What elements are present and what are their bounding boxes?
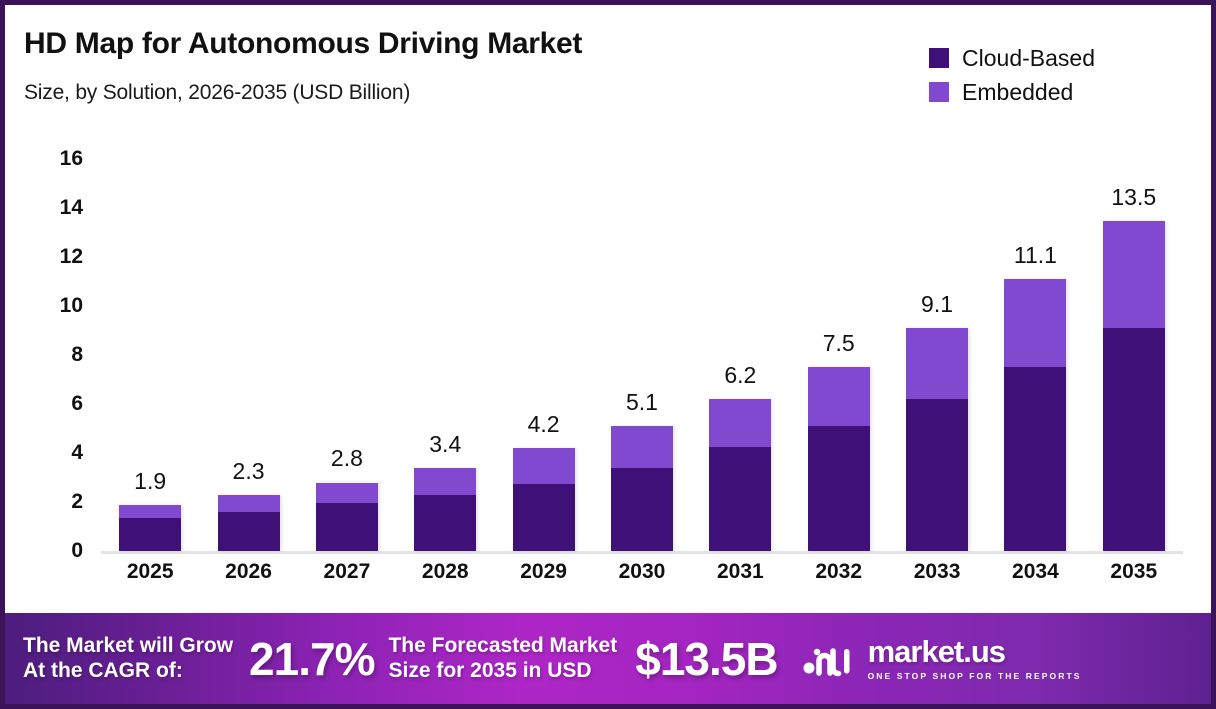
footer-banner: The Market will Grow At the CAGR of: 21.… bbox=[5, 613, 1211, 704]
x-axis-tick-label: 2032 bbox=[790, 560, 888, 600]
x-axis-baseline bbox=[101, 551, 1183, 554]
x-axis-tick-label: 2033 bbox=[888, 560, 986, 600]
chart-legend: Cloud-BasedEmbedded bbox=[929, 41, 1095, 109]
x-axis-tick-label: 2031 bbox=[691, 560, 789, 600]
bar-segment-cloud-based[interactable] bbox=[611, 468, 673, 551]
legend-item-label: Cloud-Based bbox=[962, 45, 1095, 72]
x-axis-tick-label: 2028 bbox=[396, 560, 494, 600]
bar-stack[interactable] bbox=[808, 367, 870, 551]
bar-total-label: 9.1 bbox=[921, 291, 953, 318]
bar-group[interactable]: 13.5 bbox=[1085, 135, 1183, 551]
bar-segment-cloud-based[interactable] bbox=[1004, 367, 1066, 551]
forecast-size-label: The Forecasted Market Size for 2035 in U… bbox=[388, 634, 617, 684]
y-axis-tick-label: 4 bbox=[5, 441, 83, 465]
legend-swatch-icon bbox=[929, 82, 949, 102]
bar-segment-embedded[interactable] bbox=[611, 426, 673, 468]
bar-stack[interactable] bbox=[709, 399, 771, 551]
bar-segment-embedded[interactable] bbox=[218, 495, 280, 512]
logo-tagline: ONE STOP SHOP FOR THE REPORTS bbox=[868, 672, 1082, 681]
legend-item[interactable]: Embedded bbox=[929, 75, 1095, 109]
bar-stack[interactable] bbox=[906, 328, 968, 551]
bar-total-label: 13.5 bbox=[1111, 184, 1156, 211]
plot-area: 0246810121416 1.92.32.83.44.25.16.27.59.… bbox=[5, 135, 1211, 613]
x-axis-tick-label: 2030 bbox=[593, 560, 691, 600]
bar-total-label: 3.4 bbox=[429, 431, 461, 458]
y-axis-tick-label: 6 bbox=[5, 392, 83, 416]
y-axis-tick-label: 8 bbox=[5, 343, 83, 367]
legend-item[interactable]: Cloud-Based bbox=[929, 41, 1095, 75]
bar-stack[interactable] bbox=[1103, 221, 1165, 551]
forecast-size-line1: The Forecasted Market bbox=[388, 634, 617, 659]
bar-segment-cloud-based[interactable] bbox=[316, 503, 378, 551]
bar-group[interactable]: 2.3 bbox=[199, 135, 297, 551]
chart-card: HD Map for Autonomous Driving Market Siz… bbox=[0, 0, 1216, 709]
bar-segment-embedded[interactable] bbox=[316, 483, 378, 504]
bar-stack[interactable] bbox=[316, 482, 378, 551]
cagr-label: The Market will Grow At the CAGR of: bbox=[23, 634, 233, 684]
market-us-logo-icon bbox=[802, 639, 858, 679]
market-us-logo[interactable]: market.us ONE STOP SHOP FOR THE REPORTS bbox=[802, 636, 1082, 681]
bar-segment-embedded[interactable] bbox=[1004, 279, 1066, 367]
cagr-label-line1: The Market will Grow bbox=[23, 634, 233, 659]
y-axis-tick-label: 2 bbox=[5, 490, 83, 514]
bar-segment-cloud-based[interactable] bbox=[1103, 328, 1165, 551]
market-us-logo-text: market.us ONE STOP SHOP FOR THE REPORTS bbox=[868, 636, 1082, 681]
bar-stack[interactable] bbox=[119, 505, 181, 551]
bar-group[interactable]: 9.1 bbox=[888, 135, 986, 551]
bar-total-label: 5.1 bbox=[626, 389, 658, 416]
x-axis-tick-label: 2025 bbox=[101, 560, 199, 600]
bar-total-label: 6.2 bbox=[724, 362, 756, 389]
x-axis: 2025202620272028202920302031203220332034… bbox=[101, 560, 1183, 600]
bar-group[interactable]: 7.5 bbox=[790, 135, 888, 551]
bar-total-label: 1.9 bbox=[134, 468, 166, 495]
bar-segment-cloud-based[interactable] bbox=[906, 399, 968, 551]
bar-group[interactable]: 5.1 bbox=[593, 135, 691, 551]
y-axis-tick-label: 16 bbox=[5, 147, 83, 171]
bar-total-label: 4.2 bbox=[528, 411, 560, 438]
bar-segment-embedded[interactable] bbox=[906, 328, 968, 399]
forecast-size-value: $13.5B bbox=[635, 636, 777, 682]
bar-segment-cloud-based[interactable] bbox=[218, 512, 280, 551]
bar-segment-embedded[interactable] bbox=[119, 505, 181, 518]
cagr-label-line2: At the CAGR of: bbox=[23, 659, 233, 684]
bar-segment-embedded[interactable] bbox=[1103, 221, 1165, 329]
bar-stack[interactable] bbox=[611, 426, 673, 551]
bar-stack[interactable] bbox=[513, 448, 575, 551]
bar-segment-embedded[interactable] bbox=[709, 399, 771, 447]
bar-group[interactable]: 2.8 bbox=[298, 135, 396, 551]
bar-total-label: 2.8 bbox=[331, 445, 363, 472]
chart-subtitle: Size, by Solution, 2026-2035 (USD Billio… bbox=[24, 81, 410, 105]
y-axis-tick-label: 12 bbox=[5, 245, 83, 269]
bar-stack[interactable] bbox=[414, 468, 476, 551]
bar-segment-embedded[interactable] bbox=[513, 448, 575, 483]
legend-item-label: Embedded bbox=[962, 79, 1073, 106]
x-axis-tick-label: 2034 bbox=[986, 560, 1084, 600]
page-title: HD Map for Autonomous Driving Market bbox=[24, 27, 582, 61]
x-axis-tick-label: 2026 bbox=[199, 560, 297, 600]
bar-group[interactable]: 6.2 bbox=[691, 135, 789, 551]
bar-total-label: 2.3 bbox=[233, 458, 265, 485]
bar-total-label: 11.1 bbox=[1014, 242, 1057, 269]
bar-stack[interactable] bbox=[1004, 279, 1066, 551]
y-axis-tick-label: 0 bbox=[5, 539, 83, 563]
legend-swatch-icon bbox=[929, 48, 949, 68]
x-axis-tick-label: 2035 bbox=[1085, 560, 1183, 600]
y-axis-tick-label: 10 bbox=[5, 294, 83, 318]
bar-group[interactable]: 11.1 bbox=[986, 135, 1084, 551]
bar-group[interactable]: 4.2 bbox=[494, 135, 592, 551]
bar-segment-embedded[interactable] bbox=[808, 367, 870, 426]
bar-stack[interactable] bbox=[218, 495, 280, 551]
bar-segment-embedded[interactable] bbox=[414, 468, 476, 495]
bar-segment-cloud-based[interactable] bbox=[119, 518, 181, 551]
bar-series-group: 1.92.32.83.44.25.16.27.59.111.113.5 bbox=[101, 135, 1183, 551]
x-axis-tick-label: 2027 bbox=[298, 560, 396, 600]
bar-segment-cloud-based[interactable] bbox=[808, 426, 870, 551]
bar-group[interactable]: 3.4 bbox=[396, 135, 494, 551]
bar-segment-cloud-based[interactable] bbox=[414, 495, 476, 551]
forecast-size-line2: Size for 2035 in USD bbox=[388, 659, 617, 684]
bar-total-label: 7.5 bbox=[823, 330, 855, 357]
bar-segment-cloud-based[interactable] bbox=[709, 447, 771, 551]
bar-segment-cloud-based[interactable] bbox=[513, 484, 575, 551]
x-axis-tick-label: 2029 bbox=[494, 560, 592, 600]
cagr-value: 21.7% bbox=[249, 636, 374, 682]
bar-group[interactable]: 1.9 bbox=[101, 135, 199, 551]
y-axis-tick-label: 14 bbox=[5, 196, 83, 220]
logo-wordmark: market.us bbox=[868, 636, 1082, 667]
